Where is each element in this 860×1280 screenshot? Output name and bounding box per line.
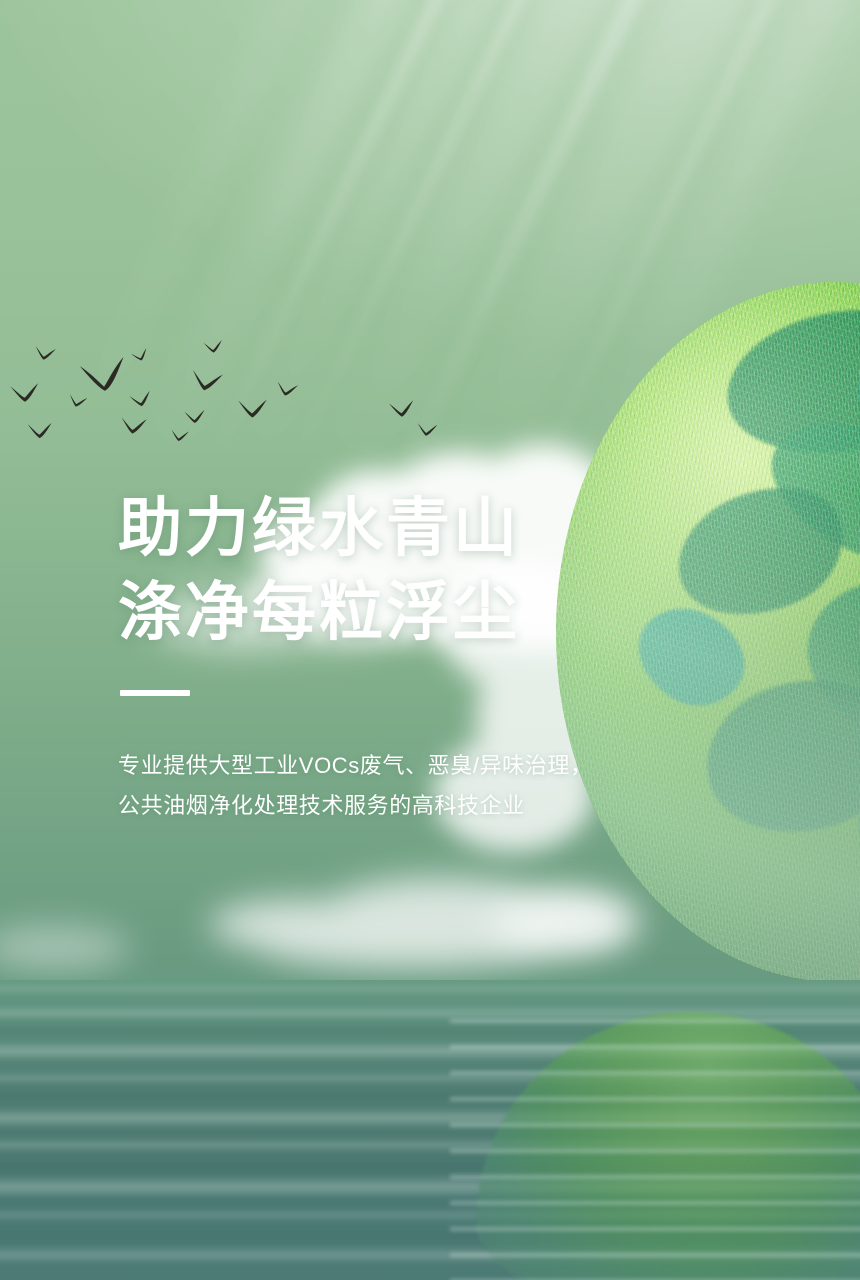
hero-copy-block: 助力绿水青山 涤净每粒浮尘 专业提供大型工业VOCs废气、恶臭/异味治理， 公共… bbox=[118, 486, 658, 826]
subcopy-block: 专业提供大型工业VOCs废气、恶臭/异味治理， 公共油烟净化处理技术服务的高科技… bbox=[118, 746, 658, 826]
headline-line-2: 涤净每粒浮尘 bbox=[118, 570, 658, 654]
bird-icon bbox=[130, 344, 158, 364]
subcopy-line-2: 公共油烟净化处理技术服务的高科技企业 bbox=[118, 786, 658, 826]
bird-icon bbox=[9, 380, 55, 404]
hero-poster: 助力绿水青山 涤净每粒浮尘 专业提供大型工业VOCs废气、恶臭/异味治理， 公共… bbox=[0, 0, 860, 1280]
bird-icon bbox=[388, 397, 429, 419]
bird-icon bbox=[184, 407, 217, 424]
bird-icon bbox=[203, 337, 234, 354]
headline-divider bbox=[120, 690, 190, 696]
bird-icon bbox=[27, 420, 66, 439]
bird-icon bbox=[128, 387, 164, 410]
bird-icon bbox=[416, 422, 448, 439]
bird-icon bbox=[120, 416, 161, 437]
bird-icon bbox=[189, 368, 239, 397]
bird-icon bbox=[170, 428, 198, 443]
bird-icon bbox=[67, 393, 97, 411]
headline-line-1: 助力绿水青山 bbox=[118, 486, 658, 570]
reflection-ripple-overlay bbox=[450, 1010, 860, 1280]
bird-icon bbox=[33, 345, 66, 364]
bird-flock bbox=[0, 330, 520, 470]
cloud-horizon-right bbox=[470, 870, 670, 970]
subcopy-line-1: 专业提供大型工业VOCs废气、恶臭/异味治理， bbox=[118, 746, 658, 786]
cloud-horizon-far-left bbox=[0, 900, 150, 990]
bird-icon bbox=[237, 397, 283, 419]
